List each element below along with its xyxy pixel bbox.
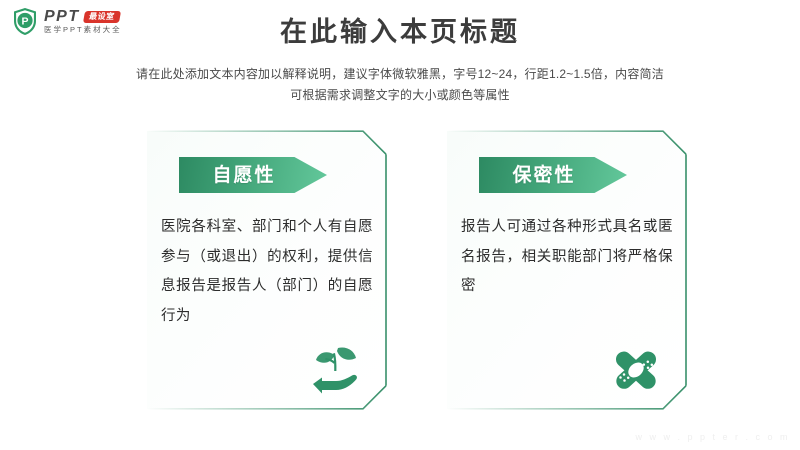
content-cards: 自愿性 医院各科室、部门和个人有自愿参与（或退出）的权利，提供信息报告是报告人（…: [0, 130, 800, 415]
card-confidential[interactable]: 保密性 报告人可通过各种形式具名或匿名报告，相关职能部门将严格保密: [447, 130, 687, 410]
ribbon-label: 保密性: [512, 166, 575, 185]
card-text-confidential: 报告人可通过各种形式具名或匿名报告，相关职能部门将严格保密: [461, 213, 673, 302]
card-body: 保密性 报告人可通过各种形式具名或匿名报告，相关职能部门将严格保密: [447, 130, 687, 410]
card-voluntary[interactable]: 自愿性 医院各科室、部门和个人有自愿参与（或退出）的权利，提供信息报告是报告人（…: [147, 130, 387, 410]
crossed-bandage-icon: [605, 344, 667, 396]
site-watermark: w w w . p p t e r . c o m: [635, 432, 790, 442]
subtitle-line-1: 请在此处添加文本内容加以解释说明，建议字体微软雅黑，字号12~24，行距1.2~…: [0, 64, 800, 85]
page-title: 在此输入本页标题: [0, 16, 800, 48]
ribbon-label: 自愿性: [212, 166, 275, 185]
card-text-voluntary: 医院各科室、部门和个人有自愿参与（或退出）的权利，提供信息报告是报告人（部门）的…: [161, 213, 373, 332]
hand-sprout-icon: [305, 344, 367, 396]
page-subtitle: 请在此处添加文本内容加以解释说明，建议字体微软雅黑，字号12~24，行距1.2~…: [0, 64, 800, 106]
subtitle-line-2: 可根据需求调整文字的大小或颜色等属性: [0, 85, 800, 106]
card-body: 自愿性 医院各科室、部门和个人有自愿参与（或退出）的权利，提供信息报告是报告人（…: [147, 130, 387, 410]
card-ribbon-voluntary: 自愿性: [179, 157, 327, 193]
card-ribbon-confidential: 保密性: [479, 157, 627, 193]
